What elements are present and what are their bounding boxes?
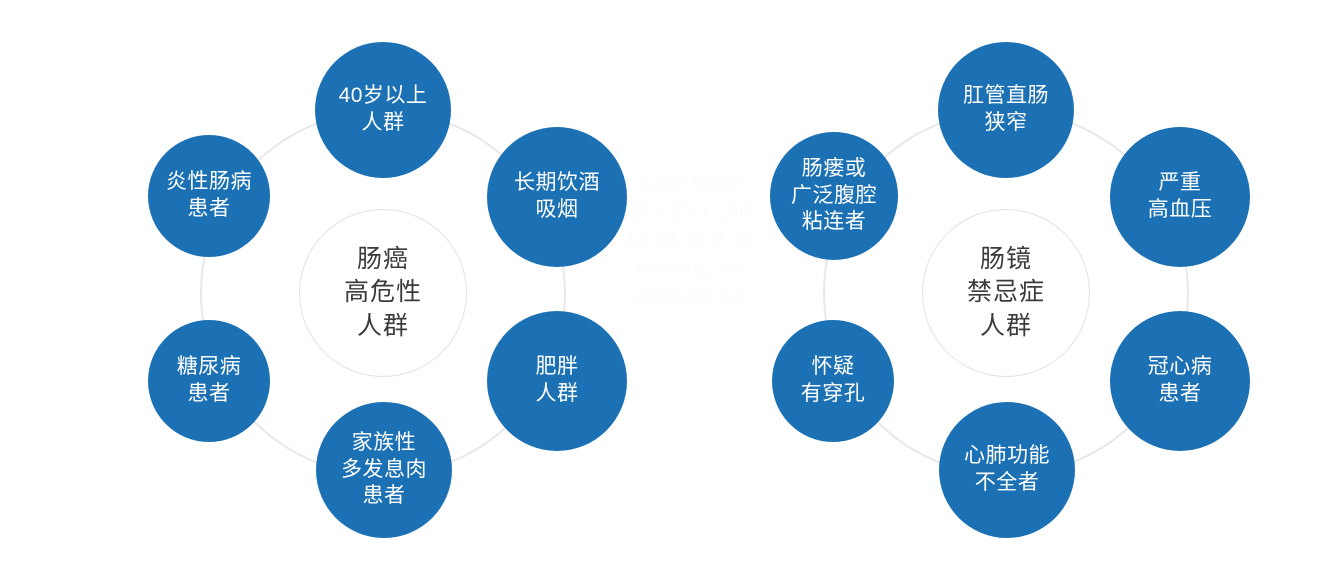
diagram-canvas: CWF 0550 172 20 1 190 15 39 17 2 32 hexi… bbox=[0, 0, 1338, 586]
node-circle[interactable]: 冠心病 患者 bbox=[1110, 311, 1250, 451]
node-label: 家族性 多发息肉 患者 bbox=[335, 430, 433, 511]
hub-label: 肠癌 高危性 人群 bbox=[344, 243, 422, 344]
node-label: 长期饮酒 吸烟 bbox=[508, 170, 606, 224]
node-circle[interactable]: 肠瘘或 广泛腹腔 粘连者 bbox=[770, 132, 898, 260]
node-label: 怀疑 有穿孔 bbox=[795, 354, 872, 408]
node-circle[interactable]: 40岁以上 人群 bbox=[315, 42, 451, 178]
hub-circle: 肠镜 禁忌症 人群 bbox=[922, 209, 1090, 377]
node-label: 严重 高血压 bbox=[1142, 170, 1219, 224]
node-circle[interactable]: 糖尿病 患者 bbox=[148, 320, 270, 442]
hub-label: 肠镜 禁忌症 人群 bbox=[967, 243, 1045, 344]
node-label: 心肺功能 不全者 bbox=[958, 443, 1056, 497]
node-circle[interactable]: 严重 高血压 bbox=[1110, 127, 1250, 267]
node-circle[interactable]: 肛管直肠 狭窄 bbox=[938, 42, 1074, 178]
node-label: 糖尿病 患者 bbox=[171, 354, 248, 408]
node-label: 肥胖 人群 bbox=[530, 354, 585, 408]
node-label: 冠心病 患者 bbox=[1142, 354, 1219, 408]
node-circle[interactable]: 炎性肠病 患者 bbox=[148, 135, 270, 257]
node-circle[interactable]: 肥胖 人群 bbox=[487, 311, 627, 451]
node-circle[interactable]: 长期饮酒 吸烟 bbox=[487, 127, 627, 267]
node-circle[interactable]: 家族性 多发息肉 患者 bbox=[316, 402, 452, 538]
node-label: 40岁以上 人群 bbox=[333, 83, 434, 137]
hub-circle: 肠癌 高危性 人群 bbox=[299, 209, 467, 377]
node-label: 炎性肠病 患者 bbox=[160, 169, 258, 223]
node-circle[interactable]: 心肺功能 不全者 bbox=[939, 402, 1075, 538]
node-label: 肠瘘或 广泛腹腔 粘连者 bbox=[785, 156, 883, 237]
node-circle[interactable]: 怀疑 有穿孔 bbox=[772, 320, 894, 442]
node-label: 肛管直肠 狭窄 bbox=[957, 83, 1055, 137]
connector-layer bbox=[0, 0, 1338, 586]
